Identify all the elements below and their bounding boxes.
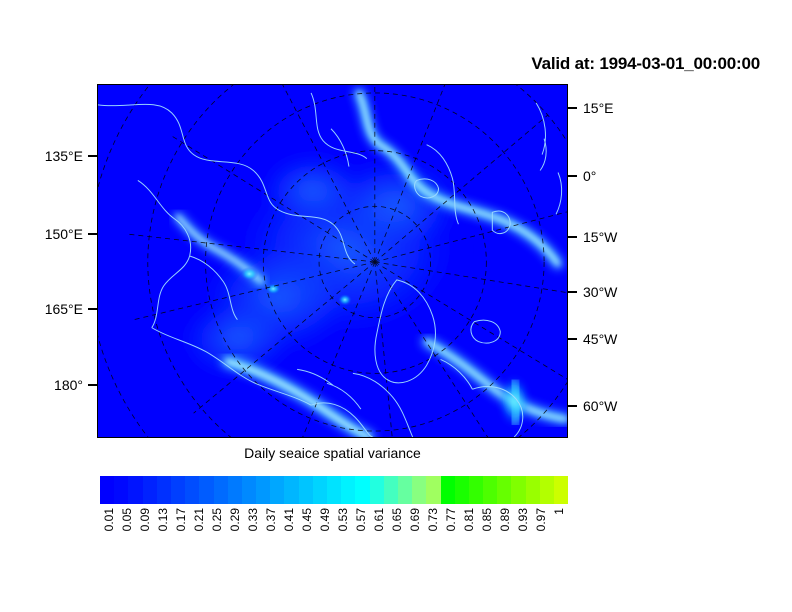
- colorbar-tick-0.85: 0.85: [481, 508, 493, 531]
- axis-tick-left: [88, 155, 97, 157]
- axis-tick-right: [568, 405, 577, 407]
- colorbar-tick-0.05: 0.05: [121, 508, 133, 531]
- colorbar-tick-0.89: 0.89: [499, 508, 511, 531]
- axis-tick-right: [568, 291, 577, 293]
- axis-label-right-30w: 30°W: [583, 284, 617, 300]
- colorbar-tick-0.73: 0.73: [427, 508, 439, 531]
- colorbar-swatch-12: [270, 476, 284, 504]
- colorbar-swatch-9: [228, 476, 242, 504]
- colorbar-tick-0.45: 0.45: [301, 508, 313, 531]
- axis-label-right-15w: 15°W: [583, 229, 617, 245]
- colorbar-swatch-16: [327, 476, 341, 504]
- colorbar-tick-0.97: 0.97: [535, 508, 547, 531]
- plot-title: Valid at: 1994-03-01_00:00:00: [531, 54, 760, 74]
- colorbar-swatch-10: [242, 476, 256, 504]
- axis-label-left-165e: 165°E: [45, 301, 83, 317]
- colorbar-swatch-22: [412, 476, 426, 504]
- colorbar-swatch-19: [370, 476, 384, 504]
- axis-tick-right: [568, 338, 577, 340]
- colorbar-swatch-29: [511, 476, 525, 504]
- colorbar-swatch-31: [540, 476, 554, 504]
- colorbar-swatch-26: [469, 476, 483, 504]
- colorbar-tick-0.65: 0.65: [391, 508, 403, 531]
- colorbar-swatch-3: [143, 476, 157, 504]
- colorbar-swatch-13: [284, 476, 298, 504]
- colorbar-tick-0.69: 0.69: [409, 508, 421, 531]
- colorbar-tick-0.01: 0.01: [103, 508, 115, 531]
- axis-label-left-135e: 135°E: [45, 148, 83, 164]
- colorbar-swatch-32: [554, 476, 568, 504]
- colorbar-swatch-2: [128, 476, 142, 504]
- colorbar-swatch-28: [497, 476, 511, 504]
- axis-tick-right: [568, 175, 577, 177]
- colorbar-swatch-5: [171, 476, 185, 504]
- colorbar-tick-0.57: 0.57: [355, 508, 367, 531]
- axis-label-left-150e: 150°E: [45, 226, 83, 242]
- colorbar-tick-0.33: 0.33: [247, 508, 259, 531]
- colorbar-swatch-7: [199, 476, 213, 504]
- colorbar-tick-0.13: 0.13: [157, 508, 169, 531]
- axis-tick-left: [88, 384, 97, 386]
- axis-label-left-180: 180°: [54, 377, 83, 393]
- map-projection-canvas: [98, 85, 567, 437]
- colorbar-swatch-4: [157, 476, 171, 504]
- axis-label-right-15e: 15°E: [583, 100, 614, 116]
- colorbar-gradient: [100, 476, 568, 504]
- colorbar-swatch-11: [256, 476, 270, 504]
- colorbar-swatch-15: [313, 476, 327, 504]
- colorbar-tick-0.25: 0.25: [211, 508, 223, 531]
- colorbar-tick-0.37: 0.37: [265, 508, 277, 531]
- colorbar-swatch-21: [398, 476, 412, 504]
- axis-tick-left: [88, 233, 97, 235]
- map-plot-area: [97, 84, 568, 438]
- colorbar-tick-1: 1: [553, 508, 565, 515]
- colorbar-swatch-1: [114, 476, 128, 504]
- colorbar: [100, 476, 568, 504]
- colorbar-tick-0.41: 0.41: [283, 508, 295, 531]
- colorbar-swatch-27: [483, 476, 497, 504]
- colorbar-swatch-18: [355, 476, 369, 504]
- colorbar-tick-0.77: 0.77: [445, 508, 457, 531]
- colorbar-tick-labels: 0.010.050.090.130.170.210.250.290.330.37…: [100, 504, 568, 574]
- colorbar-tick-0.09: 0.09: [139, 508, 151, 531]
- figure-canvas: Valid at: 1994-03-01_00:00:00: [0, 0, 792, 612]
- axis-tick-left: [88, 308, 97, 310]
- colorbar-swatch-17: [341, 476, 355, 504]
- colorbar-swatch-20: [384, 476, 398, 504]
- axis-tick-right: [568, 107, 577, 109]
- colorbar-tick-0.53: 0.53: [337, 508, 349, 531]
- colorbar-tick-0.17: 0.17: [175, 508, 187, 531]
- axis-label-right-0: 0°: [583, 168, 596, 184]
- colorbar-tick-0.93: 0.93: [517, 508, 529, 531]
- axis-label-right-45w: 45°W: [583, 331, 617, 347]
- colorbar-swatch-14: [299, 476, 313, 504]
- colorbar-swatch-23: [426, 476, 440, 504]
- colorbar-swatch-6: [185, 476, 199, 504]
- colorbar-swatch-8: [214, 476, 228, 504]
- colorbar-swatch-30: [526, 476, 540, 504]
- colorbar-swatch-24: [441, 476, 455, 504]
- axis-label-right-60w: 60°W: [583, 398, 617, 414]
- colorbar-tick-0.21: 0.21: [193, 508, 205, 531]
- colorbar-swatch-25: [455, 476, 469, 504]
- colorbar-tick-0.29: 0.29: [229, 508, 241, 531]
- x-axis-caption: Daily seaice spatial variance: [97, 445, 568, 461]
- colorbar-tick-0.49: 0.49: [319, 508, 331, 531]
- colorbar-swatch-0: [100, 476, 114, 504]
- colorbar-tick-0.61: 0.61: [373, 508, 385, 531]
- axis-tick-right: [568, 236, 577, 238]
- colorbar-tick-0.81: 0.81: [463, 508, 475, 531]
